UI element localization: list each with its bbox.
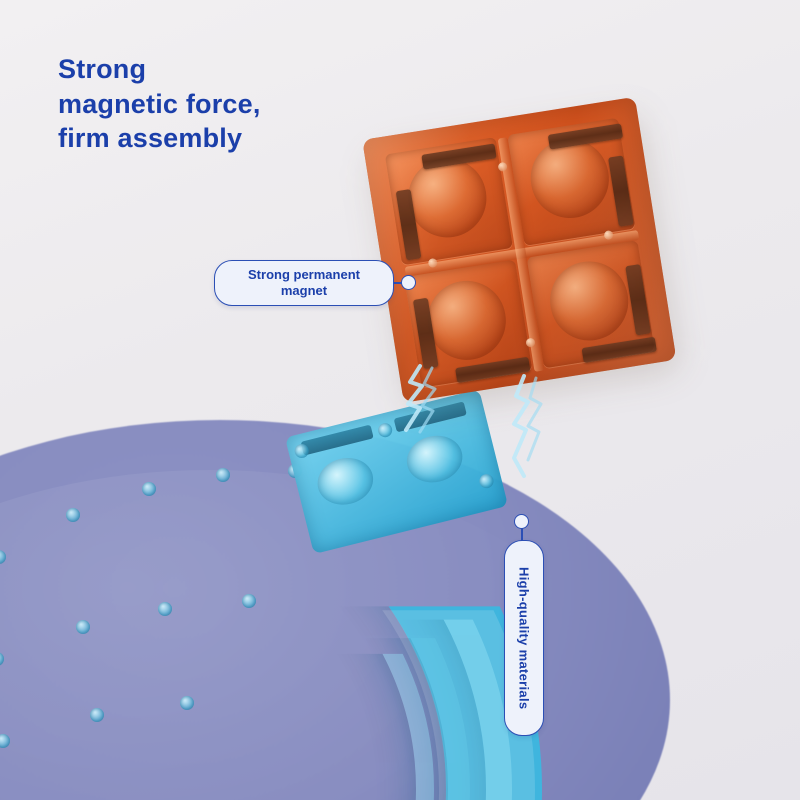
track-rivet xyxy=(90,708,104,722)
orange-magnetic-tile xyxy=(353,88,696,431)
callout-magnet-label: Strong permanent magnet xyxy=(248,267,360,300)
track-rivet xyxy=(216,468,230,482)
callout-materials-label: High-quality materials xyxy=(517,567,532,709)
callout-anchor-dot-magnet xyxy=(401,275,416,290)
callout-anchor-dot-materials xyxy=(514,514,529,529)
product-image-canvas: Strong magnetic force, firm assembly xyxy=(0,0,800,800)
tile-inner-frame xyxy=(383,115,662,390)
callout-strong-permanent-magnet[interactable]: Strong permanent magnet xyxy=(214,260,394,306)
track-rivet xyxy=(0,550,6,564)
track-rivet xyxy=(76,620,90,634)
page-title: Strong magnetic force, firm assembly xyxy=(58,52,261,156)
track-rivet xyxy=(142,482,156,496)
track-rivet xyxy=(242,594,256,608)
callout-high-quality-materials[interactable]: High-quality materials xyxy=(504,540,544,736)
tile-body xyxy=(362,97,676,403)
track-rivet xyxy=(66,508,80,522)
track-rivet xyxy=(158,602,172,616)
blue-track xyxy=(0,390,570,800)
track-rivet xyxy=(180,696,194,710)
